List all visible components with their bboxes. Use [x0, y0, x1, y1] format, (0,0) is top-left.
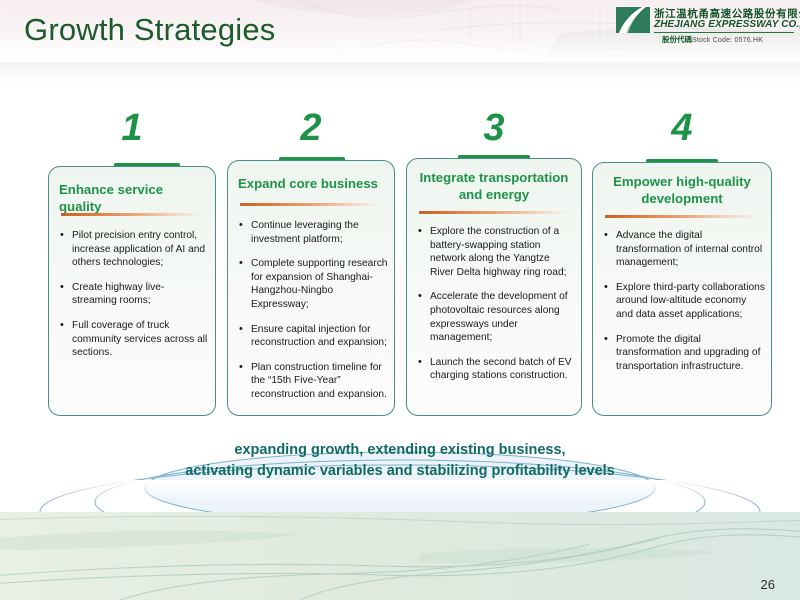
card-bullet-list-2: •Continue leveraging the investment plat…	[236, 219, 388, 402]
strategy-card-3[interactable]: Integrate transportation and energy•Expl…	[406, 158, 582, 416]
bullet-text: Ensure capital injection for reconstruct…	[251, 324, 387, 349]
bullet-item: •Ensure capital injection for reconstruc…	[236, 323, 388, 350]
card-divider-2	[240, 203, 382, 206]
strategy-card-2[interactable]: Expand core business•Continue leveraging…	[227, 160, 395, 416]
bullet-dot-icon: •	[604, 229, 608, 243]
header-fade	[0, 62, 800, 84]
bullet-text: Continue leveraging the investment platf…	[251, 220, 359, 245]
bullet-item: •Advance the digital transformation of i…	[601, 229, 765, 270]
bullet-dot-icon: •	[418, 225, 422, 239]
card-divider-1	[61, 213, 203, 216]
page-title: Growth Strategies	[24, 12, 276, 48]
bullet-text: Pilot precision entry control, increase …	[72, 230, 205, 268]
bullet-text: Complete supporting research for expansi…	[251, 258, 387, 310]
bullet-dot-icon: •	[418, 290, 422, 304]
bullet-text: Explore third-party collaborations aroun…	[616, 282, 765, 320]
bullet-item: •Launch the second batch of EV charging …	[415, 356, 575, 383]
bullet-item: •Continue leveraging the investment plat…	[236, 219, 388, 246]
bullet-text: Launch the second batch of EV charging s…	[430, 357, 572, 382]
logo-stock-label-cn: 股份代碼	[662, 35, 692, 44]
bullet-dot-icon: •	[418, 356, 422, 370]
bullet-text: Create highway live-streaming rooms;	[72, 282, 164, 307]
road-swoosh-mark-icon	[616, 7, 650, 33]
strategy-card-4[interactable]: Empower high-quality development•Advance…	[592, 162, 772, 416]
column-number-2: 2	[227, 106, 395, 150]
bullet-dot-icon: •	[239, 219, 243, 233]
bullet-dot-icon: •	[604, 333, 608, 347]
logo-stock-code: 股份代碼Stock Code: 0576.HK	[662, 34, 763, 45]
column-number-1: 1	[48, 106, 216, 150]
bullet-text: Advance the digital transformation of in…	[616, 230, 762, 268]
bullet-text: Plan construction timeline for the “15th…	[251, 362, 387, 400]
logo-divider	[654, 32, 794, 33]
card-bullet-list-1: •Pilot precision entry control, increase…	[57, 229, 209, 360]
logo-stock-label-en: Stock Code: 0576.HK	[692, 37, 763, 44]
card-title-2: Expand core business	[238, 175, 384, 192]
bullet-item: •Plan construction timeline for the “15t…	[236, 361, 388, 402]
bullet-item: •Explore the construction of a battery-s…	[415, 225, 575, 279]
bullet-dot-icon: •	[60, 281, 64, 295]
bullet-text: Full coverage of truck community service…	[72, 320, 207, 358]
bullet-dot-icon: •	[604, 281, 608, 295]
card-title-1: Enhance service quality	[59, 181, 205, 215]
tagline-line-1: expanding growth, extending existing bus…	[100, 440, 700, 461]
bullet-dot-icon: •	[239, 257, 243, 271]
bullet-item: •Create highway live-streaming rooms;	[57, 281, 209, 308]
bullet-item: •Accelerate the development of photovolt…	[415, 290, 575, 344]
column-number-3: 3	[406, 106, 582, 150]
strategy-card-1[interactable]: Enhance service quality•Pilot precision …	[48, 166, 216, 416]
bullet-text: Explore the construction of a battery-sw…	[430, 226, 566, 278]
bullet-text: Accelerate the development of photovolta…	[430, 291, 568, 343]
card-title-4: Empower high-quality development	[603, 173, 761, 207]
page-number: 26	[761, 577, 775, 592]
bullet-text: Promote the digital transformation and u…	[616, 334, 760, 372]
logo-english-name: ZHEJIANG EXPRESSWAY CO., LTD.	[654, 19, 800, 30]
bullet-item: •Promote the digital transformation and …	[601, 333, 765, 374]
card-title-3: Integrate transportation and energy	[417, 169, 571, 203]
bullet-dot-icon: •	[239, 361, 243, 375]
bullet-item: •Full coverage of truck community servic…	[57, 319, 209, 360]
company-logo: 浙江温杭甬高速公路股份有限公司 ZHEJIANG EXPRESSWAY CO.,…	[616, 5, 794, 49]
bullet-item: •Explore third-party collaborations arou…	[601, 281, 765, 322]
bullet-dot-icon: •	[60, 319, 64, 333]
bottom-landscape-image	[0, 480, 800, 600]
card-divider-4	[605, 215, 759, 218]
slide-canvas: Growth Strategies 浙江温杭甬高速公路股份有限公司 ZHEJIA…	[0, 0, 800, 600]
tagline-line-2: activating dynamic variables and stabili…	[100, 461, 700, 482]
header-band: Growth Strategies 浙江温杭甬高速公路股份有限公司 ZHEJIA…	[0, 0, 800, 62]
card-bullet-list-3: •Explore the construction of a battery-s…	[415, 225, 575, 383]
bullet-dot-icon: •	[239, 323, 243, 337]
card-divider-3	[419, 211, 569, 214]
column-number-4: 4	[592, 106, 772, 150]
bullet-dot-icon: •	[60, 229, 64, 243]
card-bullet-list-4: •Advance the digital transformation of i…	[601, 229, 765, 373]
tagline: expanding growth, extending existing bus…	[100, 440, 700, 482]
bullet-item: •Complete supporting research for expans…	[236, 257, 388, 311]
bullet-item: •Pilot precision entry control, increase…	[57, 229, 209, 270]
